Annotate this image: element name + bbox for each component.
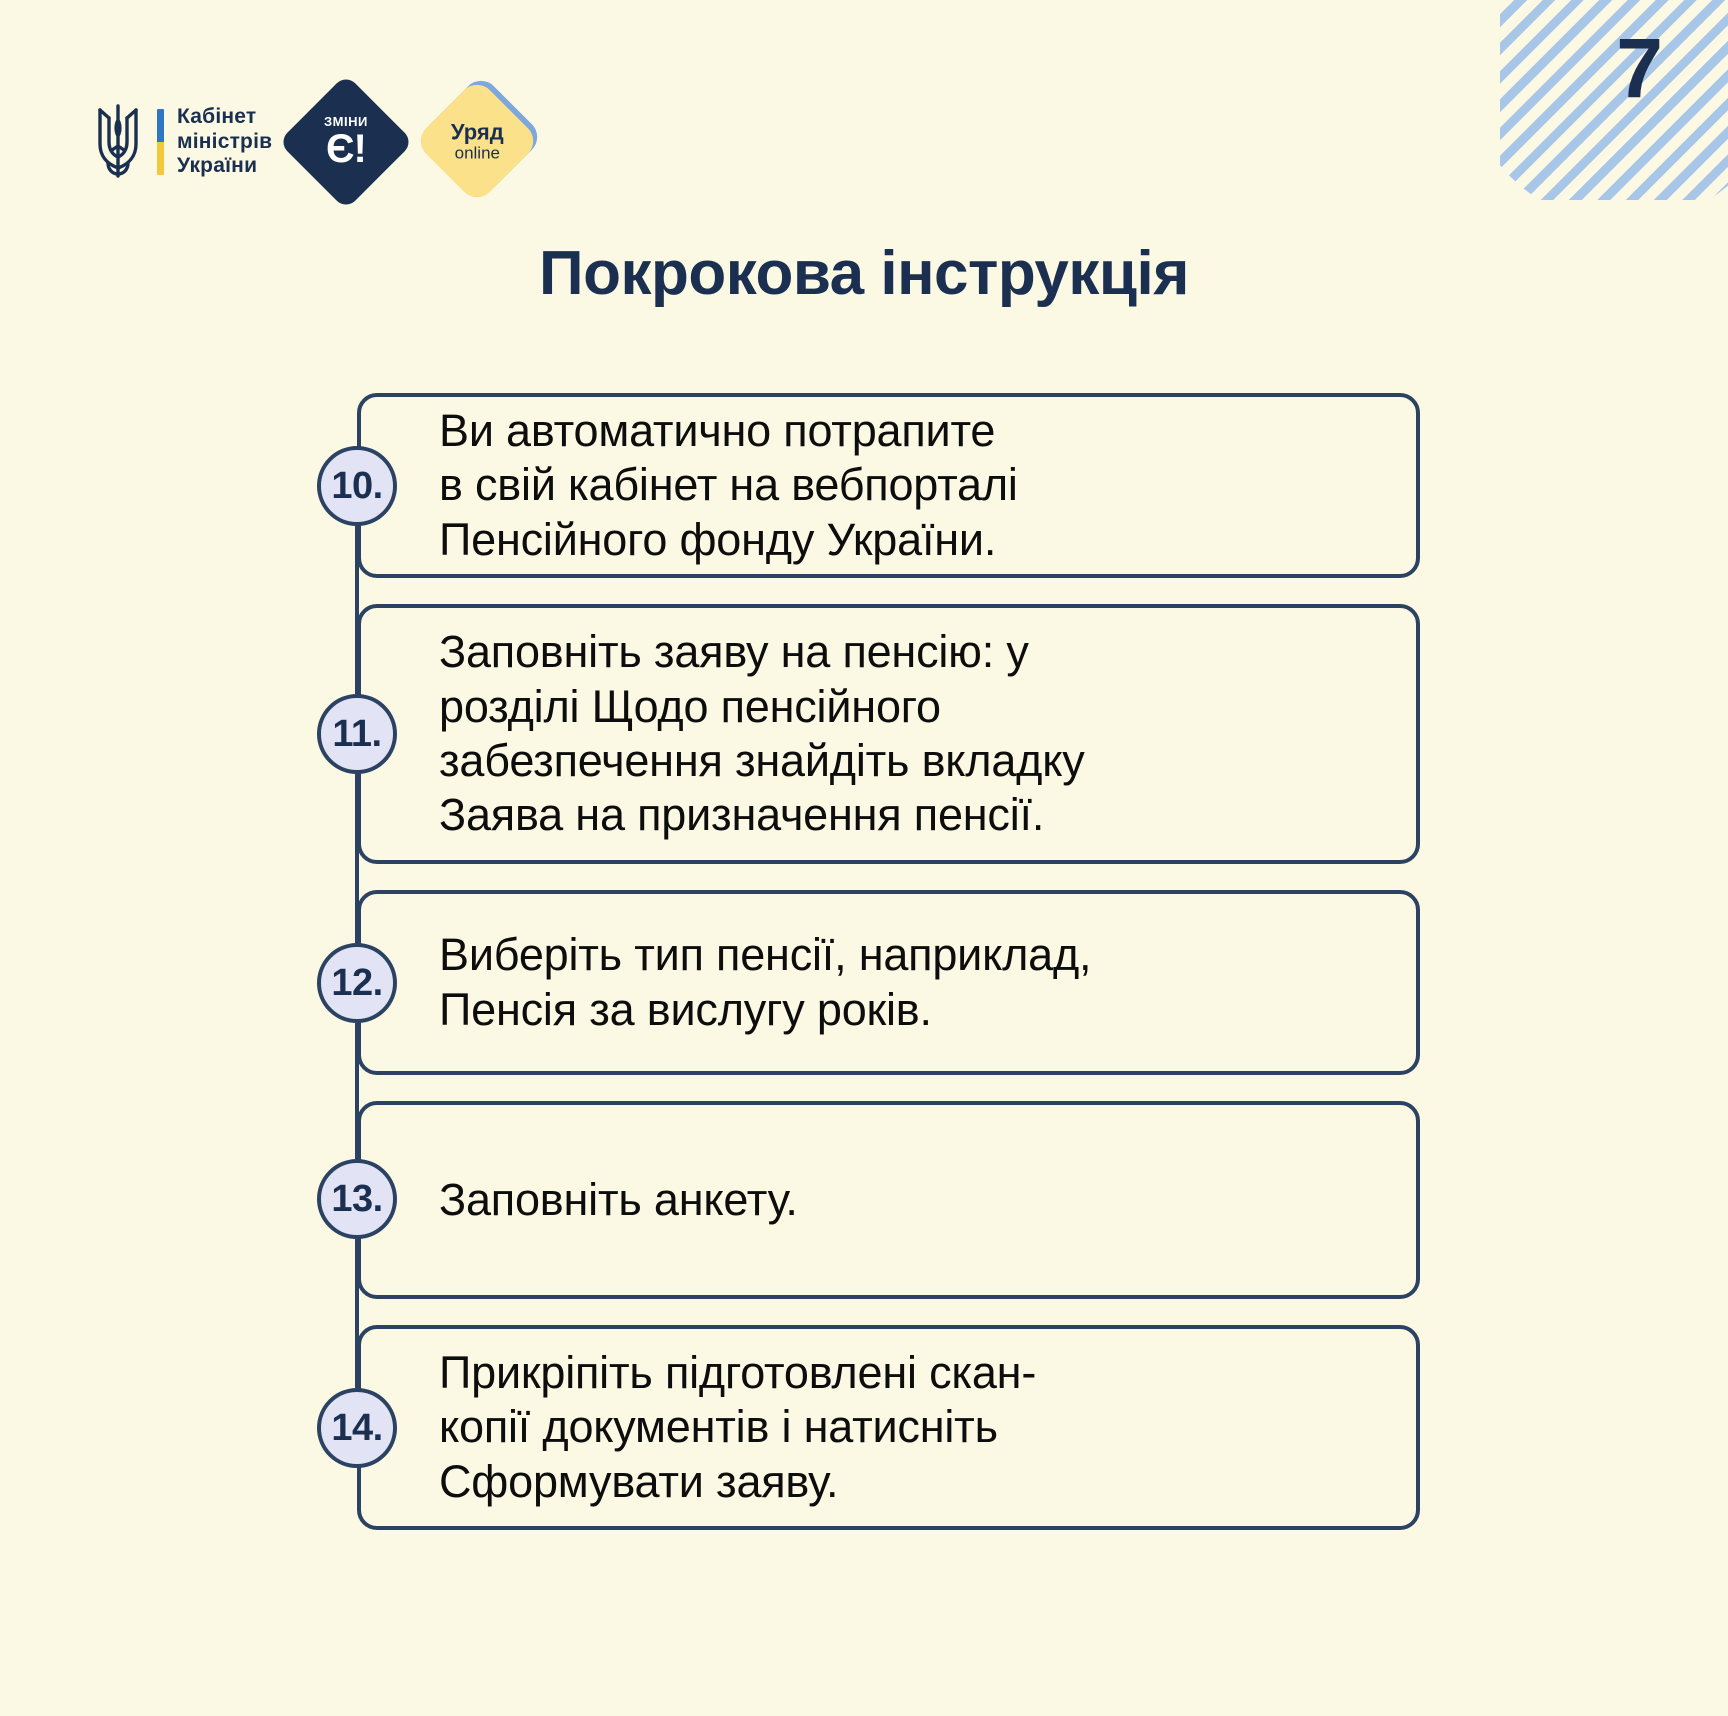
step-number-badge: 11. — [317, 694, 397, 774]
step-item: Заповніть анкету.13. — [357, 1101, 1420, 1299]
striped-circle-decoration — [1500, 0, 1728, 200]
cabinet-of-ministers-logo: Кабінет міністрів України — [92, 98, 272, 186]
uryad-online-logo: Уряд online — [428, 90, 532, 194]
step-number-badge: 13. — [317, 1159, 397, 1239]
page-number-corner: 7 — [1500, 0, 1728, 200]
step-box: Ви автоматично потрапите в свій кабінет … — [357, 393, 1420, 578]
step-box: Прикріпіть підготовлені скан- копії доку… — [357, 1325, 1420, 1530]
step-connector-line — [355, 1239, 359, 1388]
step-item: Заповніть заяву на пенсію: у розділі Щод… — [357, 604, 1420, 864]
zminy-ye-logo: ЗМІНИ Є! — [278, 74, 414, 210]
zminy-logo-big-text: Є! — [324, 129, 368, 169]
cabinet-of-ministers-label: Кабінет міністрів України — [177, 105, 272, 179]
step-box: Заповніть заяву на пенсію: у розділі Щод… — [357, 604, 1420, 864]
steps-list: Ви автоматично потрапите в свій кабінет … — [357, 393, 1420, 1530]
step-item: Виберіть тип пенсії, наприклад, Пенсія з… — [357, 890, 1420, 1075]
header-logo-bar: Кабінет міністрів України ЗМІНИ Є! Уряд … — [92, 92, 532, 192]
page-title: Покрокова інструкція — [0, 238, 1728, 309]
step-box: Виберіть тип пенсії, наприклад, Пенсія з… — [357, 890, 1420, 1075]
step-number-badge: 14. — [317, 1388, 397, 1468]
step-text: Ви автоматично потрапите в свій кабінет … — [439, 404, 1018, 567]
uryad-logo-bottom-text: online — [451, 144, 504, 162]
ukraine-trident-icon — [92, 98, 144, 186]
ukraine-flag-divider — [157, 109, 164, 175]
step-text: Заповніть заяву на пенсію: у розділі Щод… — [439, 625, 1085, 843]
step-text: Заповніть анкету. — [439, 1173, 798, 1227]
step-text: Виберіть тип пенсії, наприклад, Пенсія з… — [439, 928, 1091, 1037]
step-connector-line — [355, 1023, 359, 1159]
step-text: Прикріпіть підготовлені скан- копії доку… — [439, 1346, 1036, 1509]
uryad-logo-top-text: Уряд — [451, 120, 504, 143]
step-box: Заповніть анкету. — [357, 1101, 1420, 1299]
step-item: Ви автоматично потрапите в свій кабінет … — [357, 393, 1420, 578]
step-connector-line — [355, 526, 359, 694]
page-number: 7 — [1616, 26, 1662, 110]
step-item: Прикріпіть підготовлені скан- копії доку… — [357, 1325, 1420, 1530]
step-connector-line — [355, 774, 359, 943]
step-number-badge: 10. — [317, 446, 397, 526]
step-number-badge: 12. — [317, 943, 397, 1023]
